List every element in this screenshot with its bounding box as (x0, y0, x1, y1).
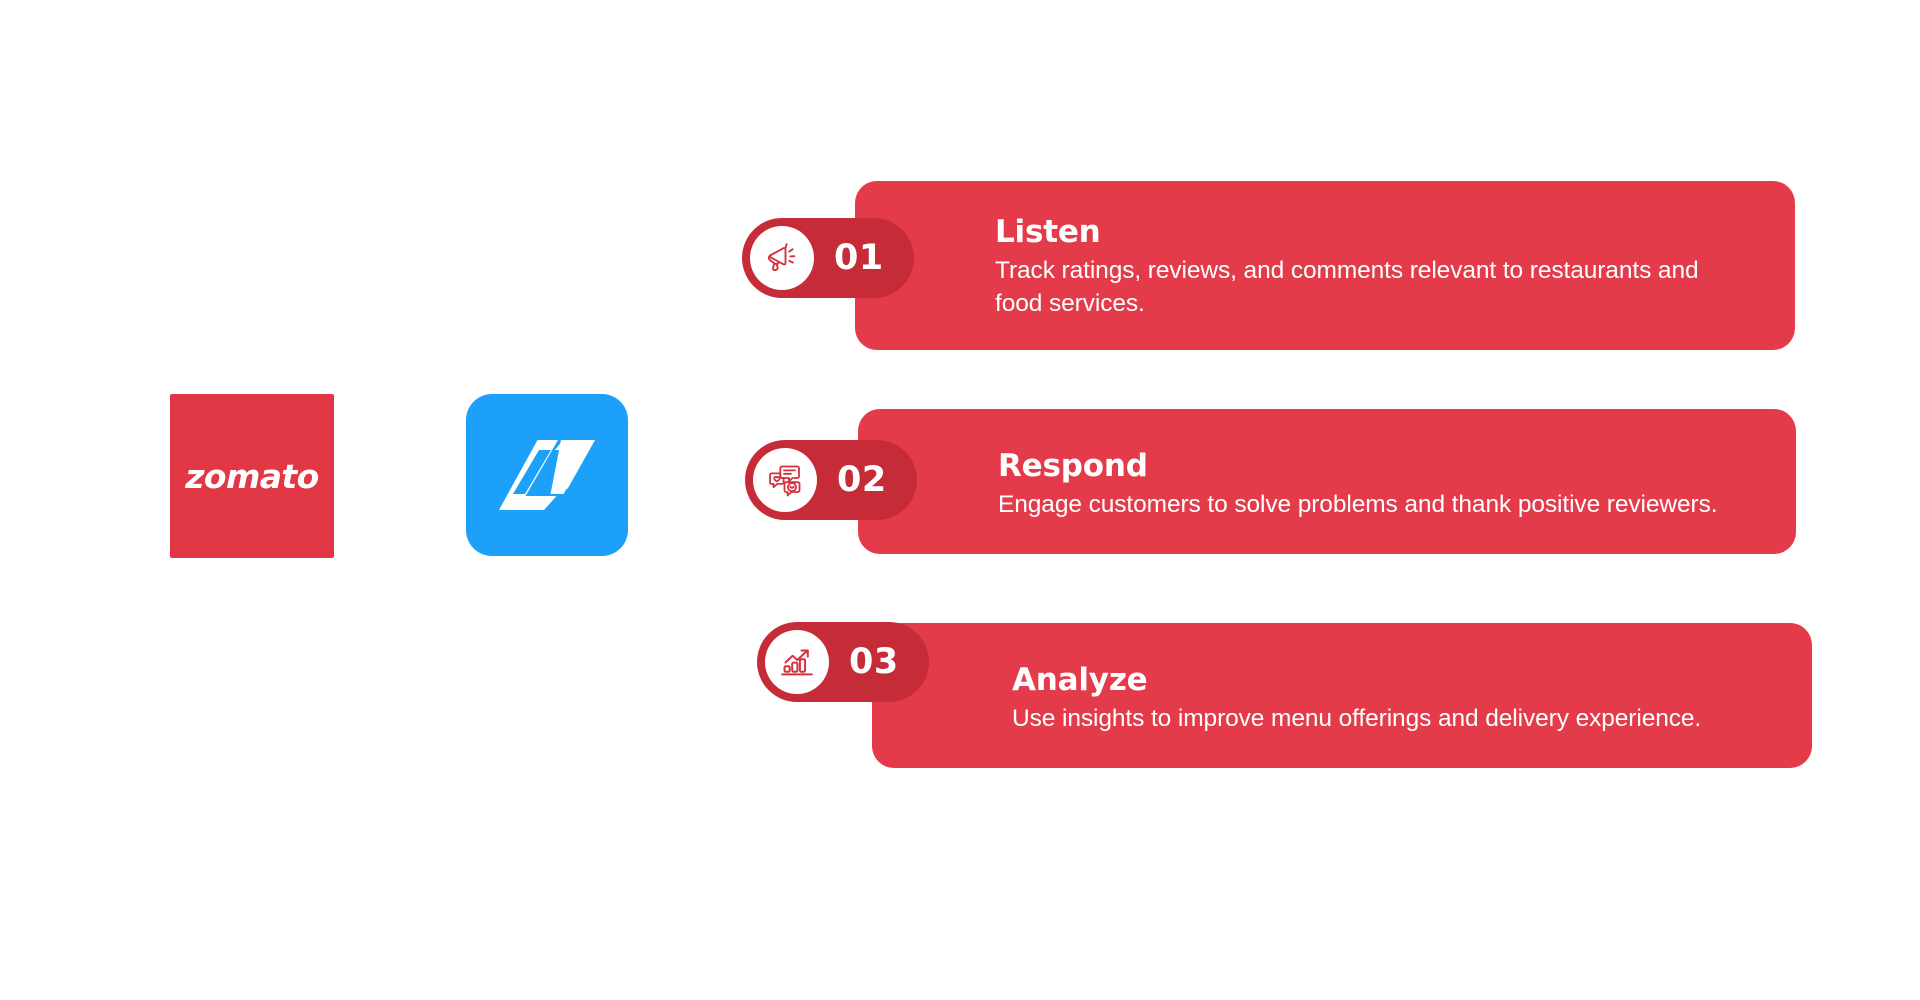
step-description-1: Track ratings, reviews, and comments rel… (995, 255, 1747, 320)
step-badge-2[interactable]: 02 (745, 440, 917, 520)
megaphone-icon (750, 226, 814, 290)
step-card-2[interactable]: Respond Engage customers to solve proble… (858, 409, 1796, 554)
step-number-3: 03 (849, 645, 899, 680)
step-number-1: 01 (834, 241, 884, 276)
step-badge-3[interactable]: 03 (757, 622, 929, 702)
bar-chart-growth-icon (765, 630, 829, 694)
step-badge-1[interactable]: 01 (742, 218, 914, 298)
steps-list: Listen Track ratings, reviews, and comme… (0, 0, 1920, 1000)
step-card-3[interactable]: Analyze Use insights to improve menu off… (872, 623, 1812, 768)
slide-canvas: zomato Listen Track ratings, reviews, an… (0, 0, 1920, 1000)
step-card-1[interactable]: Listen Track ratings, reviews, and comme… (855, 181, 1795, 350)
step-description-3: Use insights to improve menu offerings a… (1012, 703, 1764, 736)
step-title-3: Analyze (1012, 663, 1764, 698)
step-title-1: Listen (995, 215, 1747, 250)
step-description-2: Engage customers to solve problems and t… (998, 489, 1748, 522)
chat-feedback-icon (753, 448, 817, 512)
step-title-2: Respond (998, 449, 1748, 484)
step-number-2: 02 (837, 463, 887, 498)
